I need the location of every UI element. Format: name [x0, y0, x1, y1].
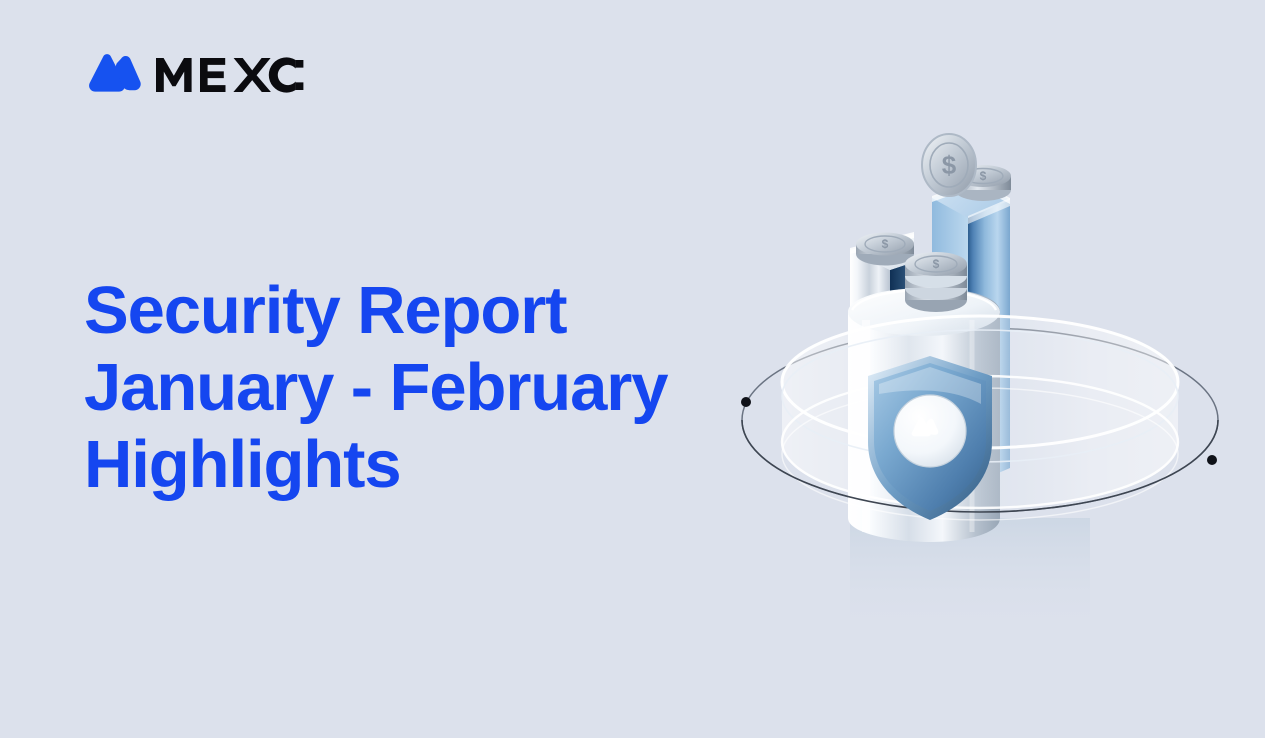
orbit-dot-left: [741, 397, 751, 407]
coin-symbol-tilted: $: [942, 150, 957, 180]
page-title: Security Report January - February Highl…: [84, 272, 784, 503]
coin-stack-left: $: [856, 233, 914, 266]
coin-symbol-front: $: [933, 257, 940, 271]
security-report-banner: Security Report January - February Highl…: [0, 0, 1265, 738]
coin-symbol-top: $: [980, 169, 987, 183]
coin-stack-top: $ $: [922, 134, 1011, 201]
coin-symbol-left: $: [882, 237, 889, 251]
mexc-wordmark: [156, 56, 304, 98]
headline-line-2: January - February: [84, 349, 784, 426]
security-report-3d-illustration: $ $ $: [700, 120, 1265, 640]
coin-stack-front: $: [905, 252, 967, 312]
headline-line-1: Security Report: [84, 272, 784, 349]
mexc-logo-mark-icon: [84, 53, 142, 100]
brand-logo[interactable]: [84, 53, 304, 100]
headline-line-3: Highlights: [84, 426, 784, 503]
orbit-dot-right: [1207, 455, 1217, 465]
